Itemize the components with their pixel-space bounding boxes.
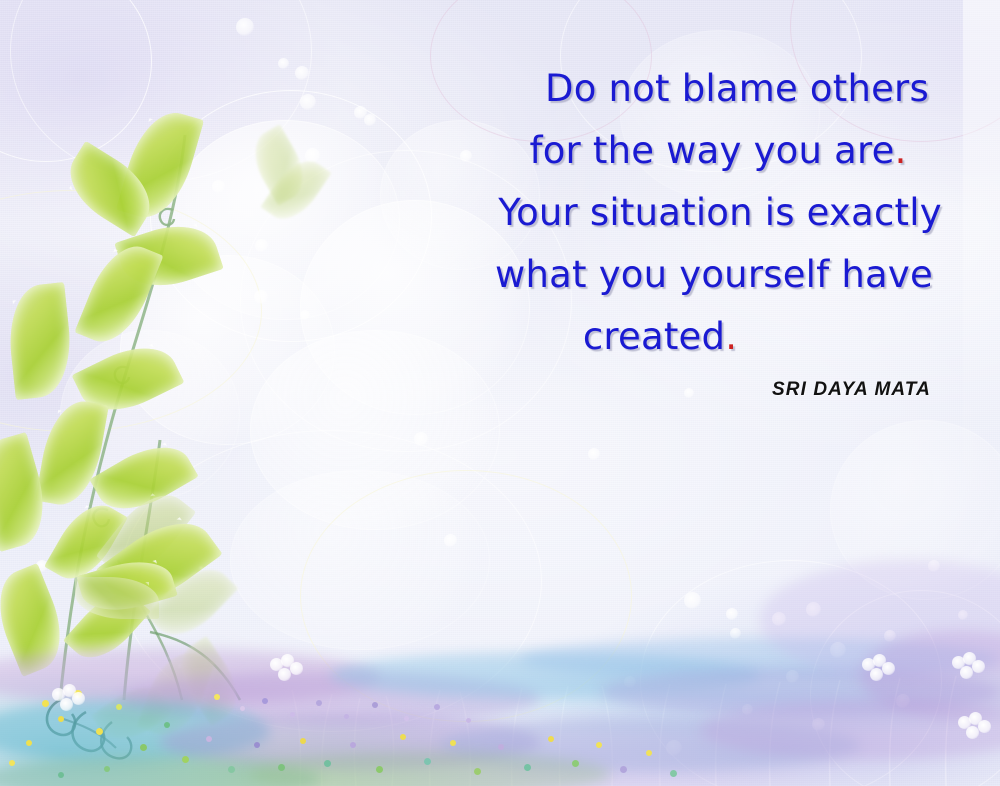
white-flower-icon [958, 712, 992, 746]
quote-line-1: Do not blame others [470, 58, 970, 120]
quote-line-5: created. [470, 306, 970, 368]
white-flower-icon [270, 654, 304, 688]
attribution-author: SRI DAYA MATA [772, 379, 931, 401]
quote-line-4-text: what you yourself have [495, 253, 933, 296]
quote-line-2-text: for the way you are [529, 129, 894, 172]
watercolor-garden [0, 560, 1000, 786]
white-flower-icon [52, 684, 86, 718]
quote-line-1-text: Do not blame others [545, 67, 929, 110]
quote-line-5-period: . [725, 315, 737, 358]
quote-line-2-period: . [895, 129, 907, 172]
quote-line-5-text: created [583, 315, 725, 358]
quote-line-3: Your situation is exactly [470, 182, 970, 244]
white-flower-icon [862, 654, 896, 688]
quote-line-4: what you yourself have [470, 244, 970, 306]
quote-poster: Do not blame others for the way you are.… [0, 0, 1000, 786]
quote-line-2: for the way you are. [470, 120, 970, 182]
white-flower-icon [952, 652, 986, 686]
quote-block: Do not blame others for the way you are.… [470, 58, 970, 368]
quote-line-3-text: Your situation is exactly [498, 191, 942, 234]
